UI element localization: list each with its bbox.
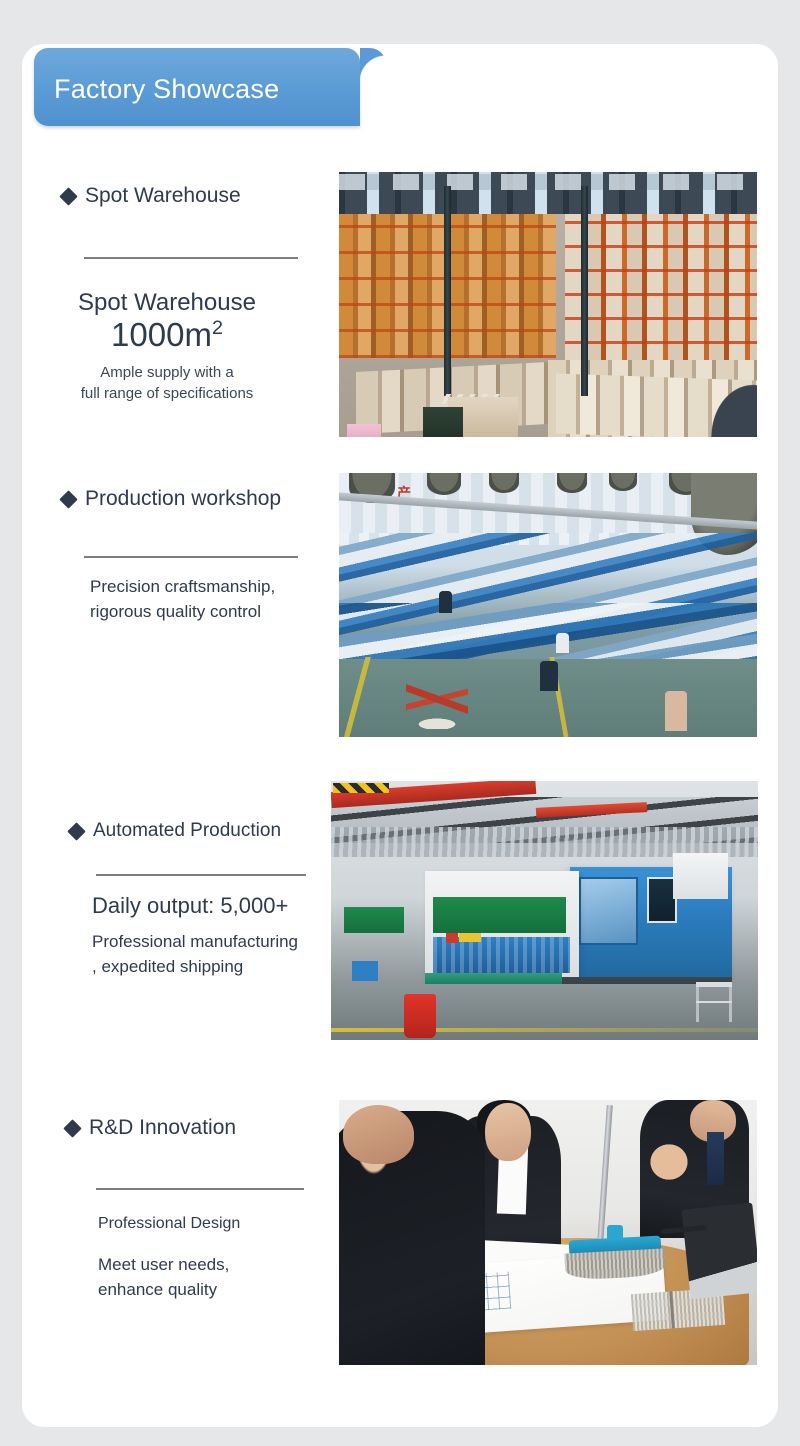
section-3-metric: Daily output: 5,000+ [92, 893, 332, 918]
tab-notch [34, 126, 94, 152]
section-2-heading-label: Production workshop [85, 487, 281, 511]
section-1-desc-line-2: full range of specifications [34, 384, 300, 405]
section-3-desc-line-2: , expedited shipping [92, 955, 332, 980]
section-1-heading-label: Spot Warehouse [85, 184, 241, 208]
diamond-icon [63, 1119, 81, 1137]
section-4-body: Professional Design Meet user needs, enh… [98, 1212, 338, 1302]
section-3-heading-label: Automated Production [93, 820, 281, 842]
section-1-body: Spot Warehouse 1000m2 Ample supply with … [34, 289, 300, 404]
header-tab: Factory Showcase [34, 48, 360, 126]
section-4-divider [96, 1188, 304, 1190]
production-workshop-photo: 生产 [339, 473, 757, 737]
section-1-metric-value: 1000m [111, 316, 212, 353]
section-3-desc-line-1: Professional manufacturing [92, 930, 332, 955]
section-4-desc-line-2: enhance quality [98, 1278, 338, 1303]
section-2-body: Precision craftsmanship, rigorous qualit… [90, 575, 320, 624]
section-1-metric: 1000m2 [34, 317, 300, 353]
section-2-desc-line-1: Precision craftsmanship, [90, 575, 320, 600]
section-2-desc-line-2: rigorous quality control [90, 600, 320, 625]
section-3-divider [96, 874, 306, 876]
section-1-metric-sup: 2 [212, 317, 223, 339]
diamond-icon [59, 490, 77, 508]
section-4-desc-line-1: Meet user needs, [98, 1253, 338, 1278]
section-4-heading: R&D Innovation [66, 1116, 236, 1140]
section-1-heading: Spot Warehouse [62, 184, 241, 208]
automated-production-photo [331, 781, 758, 1040]
section-4-subtitle: Professional Design [98, 1212, 338, 1235]
spot-warehouse-photo [339, 172, 757, 437]
section-2-heading: Production workshop [62, 487, 281, 511]
section-3-body: Daily output: 5,000+ Professional manufa… [92, 893, 332, 980]
factory-showcase-page: Factory Showcase Spot Warehouse Spot War… [0, 0, 800, 1446]
section-1-desc-line-1: Ample supply with a [34, 363, 300, 384]
page-title: Factory Showcase [54, 74, 279, 105]
rd-innovation-photo [339, 1100, 757, 1365]
section-1-divider [84, 257, 298, 259]
diamond-icon [59, 187, 77, 205]
section-1-headline: Spot Warehouse [34, 289, 300, 317]
section-4-heading-label: R&D Innovation [89, 1116, 236, 1140]
section-3-heading: Automated Production [70, 820, 281, 842]
section-2-divider [84, 556, 298, 558]
diamond-icon [67, 822, 85, 840]
